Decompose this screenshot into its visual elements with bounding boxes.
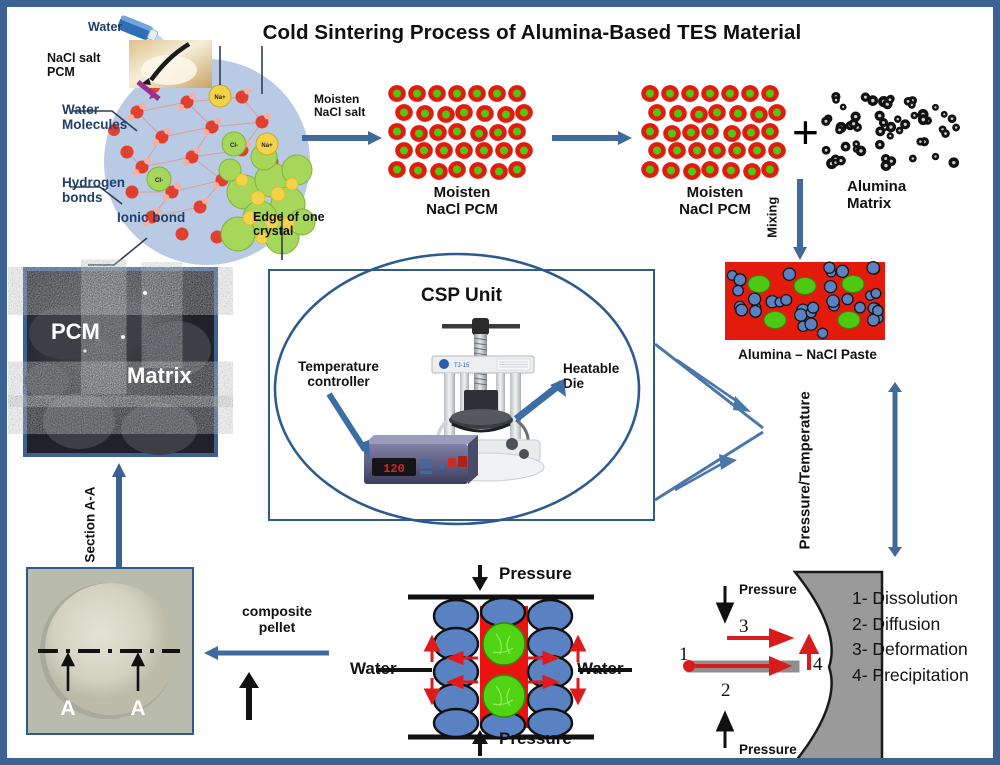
mixing-arrow bbox=[792, 179, 808, 261]
moisten-nacl-pcm-label-1: Moisten NaCl PCM bbox=[392, 185, 532, 219]
water-right-label: Water bbox=[577, 659, 624, 678]
mech-marker-1-text: 1 bbox=[679, 644, 689, 665]
svg-text:TJ-15: TJ-15 bbox=[454, 363, 470, 369]
heatable-die-label: Heatable Die bbox=[563, 361, 643, 391]
sem-micrograph-frame: PCM Matrix bbox=[23, 267, 218, 457]
pellet-marker-right-text: A bbox=[130, 697, 145, 720]
pressure-top-label: Pressure bbox=[499, 564, 572, 583]
legend-item-3: 3- Deformation bbox=[852, 640, 969, 660]
mech-pressure-top-text: Pressure bbox=[739, 582, 797, 597]
water-left-label: Water bbox=[350, 659, 397, 678]
pellet-marker-left-text: A bbox=[60, 697, 75, 720]
temperature-controller-arrow bbox=[325, 392, 385, 464]
salt-pour-arrow bbox=[137, 81, 163, 103]
moisten-nacl-pcm-block-2 bbox=[645, 85, 785, 180]
alumina-matrix-label: Alumina Matrix bbox=[847, 179, 906, 213]
plus-sign: + bbox=[792, 107, 819, 159]
csp-callout-lines bbox=[655, 342, 855, 502]
section-aa-label: Section A-A bbox=[82, 487, 97, 563]
mechanism-legend: 1- Dissolution 2- Diffusion 3- Deformati… bbox=[852, 589, 969, 685]
mech-marker-2-text: 2 bbox=[721, 680, 731, 701]
pellet-up-arrow bbox=[236, 672, 262, 720]
legend-item-1: 1- Dissolution bbox=[852, 589, 969, 609]
mixing-label: Mixing bbox=[765, 197, 780, 238]
ionic-bond-label: Ionic bond bbox=[117, 210, 185, 225]
temperature-controller-label: Temperature controller bbox=[286, 359, 391, 389]
pressure-top-arrow bbox=[471, 565, 489, 591]
pressure-bottom-label: Pressure bbox=[499, 729, 572, 748]
page-title: Cold Sintering Process of Alumina-Based … bbox=[232, 22, 832, 45]
legend-item-2: 2- Diffusion bbox=[852, 615, 969, 635]
composite-pellet-label: composite pellet bbox=[223, 604, 331, 635]
pressure-bottom-arrow bbox=[471, 730, 489, 756]
sem-matrix-text: Matrix bbox=[127, 363, 193, 388]
mech-marker-3-text: 3 bbox=[739, 616, 749, 637]
moisten-nacl-salt-label: Moisten NaCl salt bbox=[314, 93, 365, 120]
water-label: Water bbox=[88, 20, 122, 34]
alumina-nacl-paste-block bbox=[725, 262, 885, 340]
csp-unit-title: CSP Unit bbox=[268, 285, 655, 306]
moisten-nacl-pcm-block-1 bbox=[392, 85, 532, 180]
composite-pellet-image: A A bbox=[28, 569, 192, 733]
sem-micrograph-image: PCM Matrix bbox=[27, 271, 214, 453]
figure-root: Cold Sintering Process of Alumina-Based … bbox=[0, 0, 1000, 765]
composite-pellet-arrow bbox=[202, 645, 329, 661]
alumina-matrix-block bbox=[819, 89, 964, 174]
water-molecules-label: Water Molecules bbox=[62, 102, 127, 132]
svg-text:Cl-: Cl- bbox=[230, 143, 238, 149]
mech-marker-4-text: 4 bbox=[813, 654, 823, 675]
moisten-arrow-2 bbox=[552, 130, 634, 146]
section-aa-arrow bbox=[111, 463, 127, 575]
legend-item-4: 4- Precipitation bbox=[852, 666, 969, 686]
svg-text:Cl-: Cl- bbox=[155, 178, 163, 184]
composite-pellet-frame: A A bbox=[26, 567, 194, 735]
mech-pressure-bottom-text: Pressure bbox=[739, 742, 797, 757]
sem-pcm-text: PCM bbox=[51, 319, 100, 344]
svg-text:120: 120 bbox=[383, 462, 405, 476]
svg-text:Na+: Na+ bbox=[214, 95, 226, 101]
moisten-arrow-1 bbox=[302, 130, 384, 146]
pressure-temperature-arrow bbox=[887, 382, 903, 557]
hydrogen-bonds-label: Hydrogen bonds bbox=[62, 175, 125, 205]
nacl-salt-pcm-label: NaCl salt PCM bbox=[47, 51, 101, 79]
edge-of-crystal-label: Edge of one crystal bbox=[253, 210, 325, 238]
heatable-die-arrow bbox=[502, 379, 568, 429]
svg-text:Na+: Na+ bbox=[261, 143, 273, 149]
